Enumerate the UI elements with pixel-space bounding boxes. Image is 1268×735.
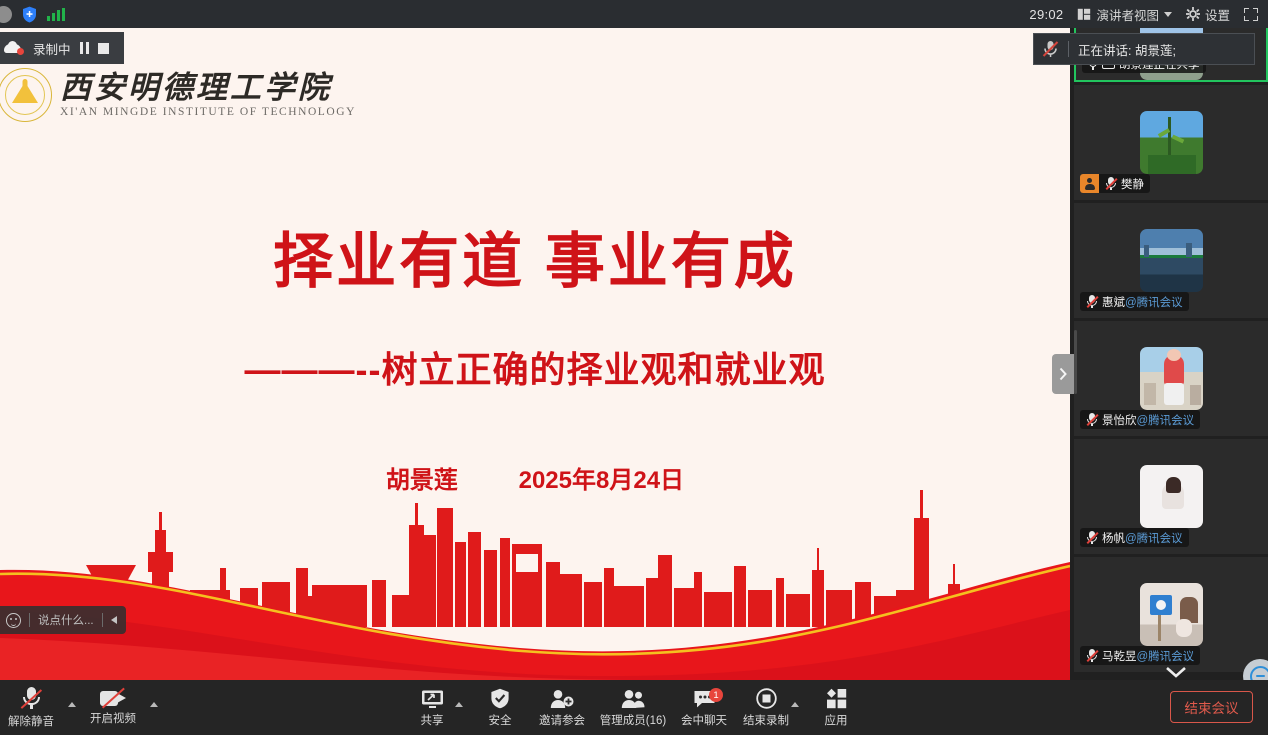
participant-thumbnail (1140, 229, 1203, 292)
chat-unread-badge: 1 (709, 688, 723, 702)
participant-thumbnail (1140, 347, 1203, 410)
shield-check-icon (490, 688, 510, 709)
participant-tile[interactable]: 惠斌@腾讯会议 (1074, 203, 1268, 318)
participant-tile[interactable]: 杨帆@腾讯会议 (1074, 439, 1268, 554)
settings-label: 设置 (1205, 5, 1230, 24)
rail-scrollbar[interactable] (1074, 330, 1077, 394)
chevron-right-icon (1058, 367, 1068, 381)
chat-button[interactable]: 1 会中聊天 (673, 680, 735, 735)
chevron-down-icon (1163, 664, 1189, 680)
caret-left-icon[interactable] (111, 616, 117, 624)
recording-label: 录制中 (33, 39, 71, 58)
participant-thumbnail (1140, 465, 1203, 528)
share-screen-icon (421, 688, 444, 709)
signal-bars-icon (47, 8, 65, 21)
host-badge-icon (1080, 174, 1099, 193)
invite-button[interactable]: 邀请参会 (531, 680, 593, 735)
participant-name: 樊静 (1121, 176, 1144, 192)
chat-label: 会中聊天 (681, 712, 727, 728)
smiley-icon[interactable] (6, 613, 21, 628)
participant-name: 景怡欣@腾讯会议 (1102, 412, 1194, 428)
divider (29, 613, 30, 627)
participant-tile[interactable]: 马乾昱@腾讯会议 (1074, 557, 1268, 672)
topbar-left-icons (0, 6, 65, 23)
people-icon (621, 688, 646, 709)
presentation-slide: 西安明德理工学院 XI'AN MINGDE INSTITUTE OF TECHN… (0, 28, 1070, 680)
participant-thumbnail (1140, 583, 1203, 646)
stop-recording-button[interactable] (98, 43, 109, 54)
participant-name: 杨帆@腾讯会议 (1102, 530, 1183, 546)
chat-input[interactable]: 说点什么... (38, 612, 94, 628)
speaking-toast-text: 正在讲话: 胡景莲; (1078, 40, 1176, 59)
tencent-meeting-window: 29:02 演讲者视图 (0, 0, 1268, 735)
university-name-en: XI'AN MINGDE INSTITUTE OF TECHNOLOGY (60, 106, 356, 118)
participant-tile[interactable]: 景怡欣@腾讯会议 (1074, 321, 1268, 436)
gear-icon (1186, 7, 1200, 21)
skyline-decoration (0, 470, 1070, 680)
participant-name: 惠斌@腾讯会议 (1102, 294, 1183, 310)
recording-bar: 录制中 (0, 32, 124, 64)
view-mode-selector[interactable]: 演讲者视图 (1077, 5, 1172, 24)
end-meeting-button[interactable]: 结束会议 (1170, 691, 1253, 723)
collapse-rail-handle[interactable] (1052, 354, 1074, 394)
chevron-down-icon (1164, 12, 1172, 17)
participant-tile[interactable]: 樊静 (1074, 85, 1268, 200)
pause-recording-button[interactable] (80, 42, 90, 54)
end-recording-button[interactable]: 结束录制 (735, 680, 797, 735)
security-button[interactable]: 安全 (469, 680, 531, 735)
top-system-bar: 29:02 演讲者视图 (0, 0, 1268, 28)
shared-screen-stage: 西安明德理工学院 XI'AN MINGDE INSTITUTE OF TECHN… (0, 28, 1070, 680)
mic-off-icon (1086, 413, 1098, 426)
university-logo: 西安明德理工学院 XI'AN MINGDE INSTITUTE OF TECHN… (0, 68, 356, 122)
bottom-toolbar: 解除静音 开启视频 (0, 680, 1268, 735)
shield-icon[interactable] (22, 6, 37, 23)
participant-nametag: 樊静 (1080, 174, 1150, 193)
mic-off-icon (1086, 531, 1098, 544)
fullscreen-icon[interactable] (1244, 8, 1258, 21)
slide-title: 择业有道 事业有成 (0, 213, 1070, 300)
toolbar-center-group: 共享 安全 (0, 680, 1268, 735)
security-label: 安全 (489, 712, 512, 728)
settings-button[interactable]: 设置 (1186, 5, 1230, 24)
view-mode-label: 演讲者视图 (1096, 5, 1159, 24)
topbar-right-controls: 29:02 演讲者视图 (1029, 5, 1268, 24)
inline-chat-bar[interactable]: 说点什么... (0, 606, 126, 634)
participant-nametag: 杨帆@腾讯会议 (1080, 528, 1189, 547)
mic-off-icon (1086, 649, 1098, 662)
apps-label: 应用 (825, 712, 848, 728)
apps-button[interactable]: 应用 (805, 680, 867, 735)
apps-grid-icon (826, 688, 847, 709)
manage-members-label: 管理成员(16) (600, 712, 666, 728)
slide-subtitle: ———--树立正确的择业观和就业观 (0, 341, 1070, 393)
mic-off-icon (1086, 295, 1098, 308)
divider (102, 613, 103, 627)
participant-nametag: 景怡欣@腾讯会议 (1080, 410, 1200, 429)
university-name-cn: 西安明德理工学院 (60, 72, 356, 105)
stop-record-icon (756, 688, 777, 709)
participant-thumbnail (1140, 111, 1203, 174)
manage-members-button[interactable]: 管理成员(16) (593, 680, 673, 735)
divider (1068, 41, 1069, 57)
person-add-icon (550, 688, 574, 709)
participant-rail[interactable]: 胡景莲正在共享 樊静 (1074, 28, 1268, 680)
mic-muted-icon (1042, 40, 1059, 58)
speaking-toast: 正在讲话: 胡景莲; (1033, 33, 1255, 65)
share-label: 共享 (421, 712, 444, 728)
meeting-timer: 29:02 (1029, 7, 1063, 22)
presenter-view-icon (1077, 8, 1091, 21)
invite-label: 邀请参会 (539, 712, 585, 728)
share-screen-button[interactable]: 共享 (401, 680, 463, 735)
university-seal-icon (0, 68, 52, 122)
end-recording-label: 结束录制 (743, 712, 789, 728)
participant-nametag: 惠斌@腾讯会议 (1080, 292, 1189, 311)
window-control-circle[interactable] (0, 6, 12, 23)
cloud-record-icon (4, 41, 24, 55)
mic-off-icon (1105, 177, 1117, 190)
